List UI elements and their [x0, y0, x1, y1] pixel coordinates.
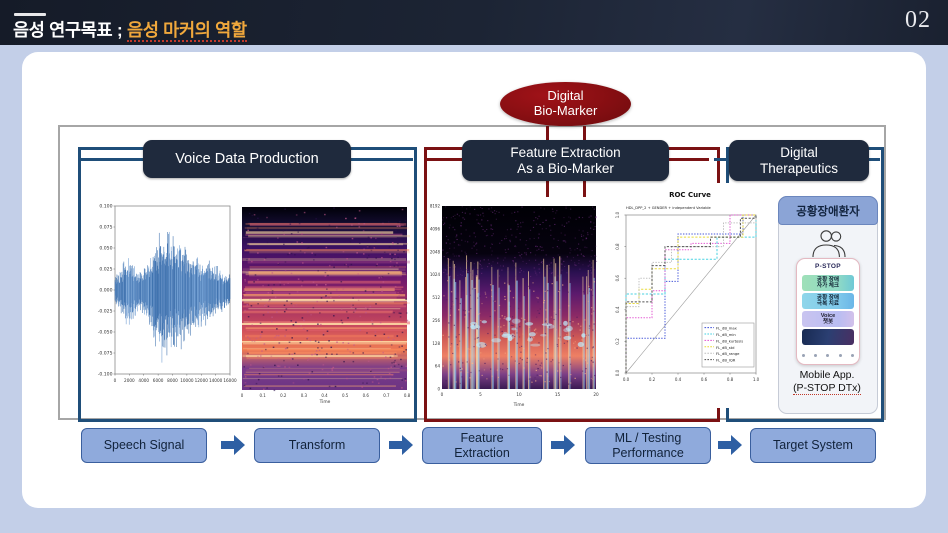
svg-text:256: 256: [432, 318, 440, 323]
connector-feature-down-2: [583, 180, 586, 197]
svg-text:0.025: 0.025: [99, 267, 112, 273]
dtx-patient-header-label: 공황장애환자: [796, 203, 859, 219]
flow-step-speech-signal-label: Speech Signal: [104, 438, 185, 452]
connector-feature-left: [424, 158, 464, 161]
pill-feature-label: Feature Extraction As a Bio-Marker: [510, 145, 620, 176]
svg-text:20: 20: [593, 392, 599, 397]
app-menu-item-banner[interactable]: [802, 329, 854, 345]
svg-text:2048: 2048: [430, 249, 441, 254]
svg-text:FL_dB_range: FL_dB_range: [716, 352, 740, 356]
svg-text:-0.075: -0.075: [98, 351, 113, 357]
svg-text:0.0: 0.0: [615, 369, 620, 376]
svg-text:0.1: 0.1: [259, 393, 266, 398]
flow-step-target-system[interactable]: Target System: [750, 428, 876, 463]
flow-step-ml-testing[interactable]: ML / Testing Performance: [585, 427, 711, 464]
dtx-caption: Mobile App. (P-STOP DTx): [778, 369, 876, 395]
flow-step-feature-extraction-line1: Feature: [460, 431, 503, 445]
phone-nav-bar: [797, 350, 859, 360]
svg-text:0.7: 0.7: [383, 393, 390, 398]
svg-text:6000: 6000: [153, 378, 164, 383]
svg-text:0: 0: [241, 393, 244, 398]
flow-step-feature-extraction[interactable]: Feature Extraction: [422, 427, 542, 464]
svg-text:0.6: 0.6: [363, 393, 370, 398]
svg-text:FL_dB_max: FL_dB_max: [716, 327, 738, 331]
roc-curve-plot: ROC Curve HDL_DPP_2 + GENDER + independe…: [604, 183, 769, 408]
svg-text:1.0: 1.0: [753, 377, 760, 382]
svg-text:0: 0: [114, 378, 117, 383]
flow-step-ml-testing-line1: ML / Testing: [615, 431, 682, 445]
dtx-caption-line2: (P-STOP DTx): [793, 382, 861, 395]
figure-roc-curve: ROC Curve HDL_DPP_2 + GENDER + independe…: [604, 183, 769, 408]
connector-voice-right: [348, 158, 413, 161]
svg-text:-0.050: -0.050: [98, 330, 113, 336]
digital-biomarker-badge: Digital Bio-Marker: [500, 82, 631, 126]
svg-text:0: 0: [441, 392, 444, 397]
svg-text:0.8: 0.8: [404, 393, 410, 398]
svg-text:15: 15: [555, 392, 561, 397]
phone-app-name: P-STOP: [797, 259, 859, 273]
connector-voice-left: [78, 158, 146, 161]
nav-dot: [851, 354, 854, 357]
app-menu-item-treatment[interactable]: 공황 장애 극복 치료: [802, 293, 854, 309]
svg-text:0.000: 0.000: [99, 288, 112, 294]
log-spectrogram-plot: 8192409620481024512256128640 05101520 Ti…: [427, 200, 600, 408]
svg-text:0.2: 0.2: [280, 393, 287, 398]
svg-text:2000: 2000: [124, 378, 135, 383]
svg-text:-0.025: -0.025: [98, 309, 113, 315]
nav-dot: [826, 354, 829, 357]
waveform-plot: 0.1000.0750.0500.0250.000-0.025-0.050-0.…: [85, 200, 237, 405]
digital-biomarker-label: Digital Bio-Marker: [534, 89, 598, 119]
svg-text:0.4: 0.4: [615, 306, 620, 313]
svg-text:0.5: 0.5: [342, 393, 349, 398]
svg-text:0.3: 0.3: [301, 393, 308, 398]
svg-text:0.100: 0.100: [99, 204, 112, 210]
svg-text:FL_dB_IQR: FL_dB_IQR: [716, 359, 736, 363]
flow-step-feature-extraction-line2: Extraction: [454, 446, 510, 460]
svg-text:0.2: 0.2: [615, 338, 620, 345]
svg-text:0.2: 0.2: [649, 377, 656, 382]
connector-feature-right: [667, 158, 709, 161]
app-menu-item-treatment-line2: 극복 치료: [817, 301, 839, 307]
flow-step-target-system-label: Target System: [773, 438, 853, 452]
patient-avatar-icon: [804, 226, 850, 258]
page-title-accent: 음성 마커의 역할: [127, 20, 247, 42]
svg-text:FL_dB_kurtosis: FL_dB_kurtosis: [716, 339, 743, 343]
svg-text:5: 5: [479, 392, 482, 397]
app-menu-item-self-check[interactable]: 공황 장애 자가 체크: [802, 275, 854, 291]
pill-voice-data-production: Voice Data Production: [143, 140, 351, 178]
figure-mel-spectrogram: 00.10.20.30.40.50.60.70.8 Time: [240, 203, 410, 405]
pill-feature-line1: Feature Extraction: [510, 145, 620, 160]
svg-text:4000: 4000: [138, 378, 149, 383]
header-accent-bar: [14, 13, 46, 16]
svg-text:512: 512: [432, 295, 440, 300]
pill-dtx-line1: Digital: [780, 145, 818, 160]
nav-dot: [802, 354, 805, 357]
svg-text:128: 128: [432, 341, 440, 346]
svg-text:0.050: 0.050: [99, 246, 112, 252]
svg-text:16000: 16000: [223, 378, 237, 383]
svg-text:Time: Time: [319, 399, 331, 405]
figure-waveform: 0.1000.0750.0500.0250.000-0.025-0.050-0.…: [85, 200, 237, 405]
flow-arrow-3-icon: [550, 434, 576, 456]
nav-dot: [839, 354, 842, 357]
svg-text:0.0: 0.0: [623, 377, 630, 382]
phone-mockup: P-STOP 공황 장애 자가 체크 공황 장애 극복 치료 Voice 챗봇: [796, 258, 860, 365]
svg-text:1024: 1024: [430, 272, 441, 277]
pill-dtx-line2: Therapeutics: [760, 161, 838, 176]
pill-feature-line2: As a Bio-Marker: [517, 161, 614, 176]
flow-step-ml-testing-line2: Performance: [612, 446, 684, 460]
svg-text:8000: 8000: [167, 378, 178, 383]
svg-text:8192: 8192: [430, 204, 441, 209]
pill-dtx-label: Digital Therapeutics: [760, 145, 838, 176]
svg-text:14000: 14000: [209, 378, 223, 383]
svg-text:12000: 12000: [195, 378, 209, 383]
dtx-caption-line1: Mobile App.: [778, 369, 876, 382]
svg-text:ROC Curve: ROC Curve: [669, 191, 711, 199]
nav-dot: [814, 354, 817, 357]
page-title: 음성 연구목표 ; 음성 마커의 역할: [13, 17, 247, 42]
flow-arrow-2-icon: [388, 434, 414, 456]
flow-step-transform-label: Transform: [289, 438, 346, 452]
slide-header: 음성 연구목표 ; 음성 마커의 역할 02: [0, 0, 948, 45]
connector-feature-down-1: [546, 180, 549, 197]
svg-text:4096: 4096: [430, 226, 441, 231]
pill-voice-label: Voice Data Production: [175, 151, 318, 168]
dtx-patient-header: 공황장애환자: [778, 196, 878, 225]
pill-digital-therapeutics: Digital Therapeutics: [729, 140, 869, 181]
svg-text:Time: Time: [513, 402, 525, 408]
svg-text:10: 10: [516, 392, 522, 397]
slide-root: 음성 연구목표 ; 음성 마커의 역할 02 0.1000.0750.0500.…: [0, 0, 948, 533]
biomarker-line1: Digital: [547, 88, 583, 103]
svg-text:0.075: 0.075: [99, 225, 112, 231]
flow-step-transform[interactable]: Transform: [254, 428, 380, 463]
app-menu-item-self-check-line2: 자가 체크: [817, 283, 839, 289]
svg-text:0.8: 0.8: [615, 243, 620, 250]
svg-text:HDL_DPP_2 + GENDER + independe: HDL_DPP_2 + GENDER + independent Variabl…: [626, 206, 712, 210]
flow-arrow-4-icon: [717, 434, 743, 456]
biomarker-line2: Bio-Marker: [534, 103, 598, 118]
flow-step-feature-extraction-label: Feature Extraction: [454, 431, 510, 459]
app-menu-item-voice-chatbot-line2: 챗봇: [823, 319, 833, 325]
flow-step-ml-testing-label: ML / Testing Performance: [612, 431, 684, 459]
svg-text:0.8: 0.8: [727, 377, 734, 382]
pill-feature-extraction: Feature Extraction As a Bio-Marker: [462, 140, 669, 181]
svg-text:0.4: 0.4: [321, 393, 328, 398]
flow-step-speech-signal[interactable]: Speech Signal: [81, 428, 207, 463]
page-number: 02: [905, 7, 931, 34]
svg-text:0.6: 0.6: [615, 275, 620, 282]
svg-text:10000: 10000: [180, 378, 194, 383]
svg-text:-0.100: -0.100: [98, 372, 113, 378]
app-menu-item-voice-chatbot[interactable]: Voice 챗봇: [802, 311, 854, 327]
flow-arrow-1-icon: [220, 434, 246, 456]
mel-spectrogram-plot: 00.10.20.30.40.50.60.70.8 Time: [240, 203, 410, 405]
svg-text:FL_dB_min: FL_dB_min: [716, 333, 736, 337]
figure-log-spectrogram: 8192409620481024512256128640 05101520 Ti…: [427, 200, 600, 408]
svg-text:0.4: 0.4: [675, 377, 682, 382]
page-title-main: 음성 연구목표 ;: [13, 20, 127, 40]
svg-text:0.6: 0.6: [701, 377, 708, 382]
svg-text:FL_dB_std: FL_dB_std: [716, 346, 734, 350]
svg-text:64: 64: [435, 364, 441, 369]
svg-text:1.0: 1.0: [615, 211, 620, 218]
